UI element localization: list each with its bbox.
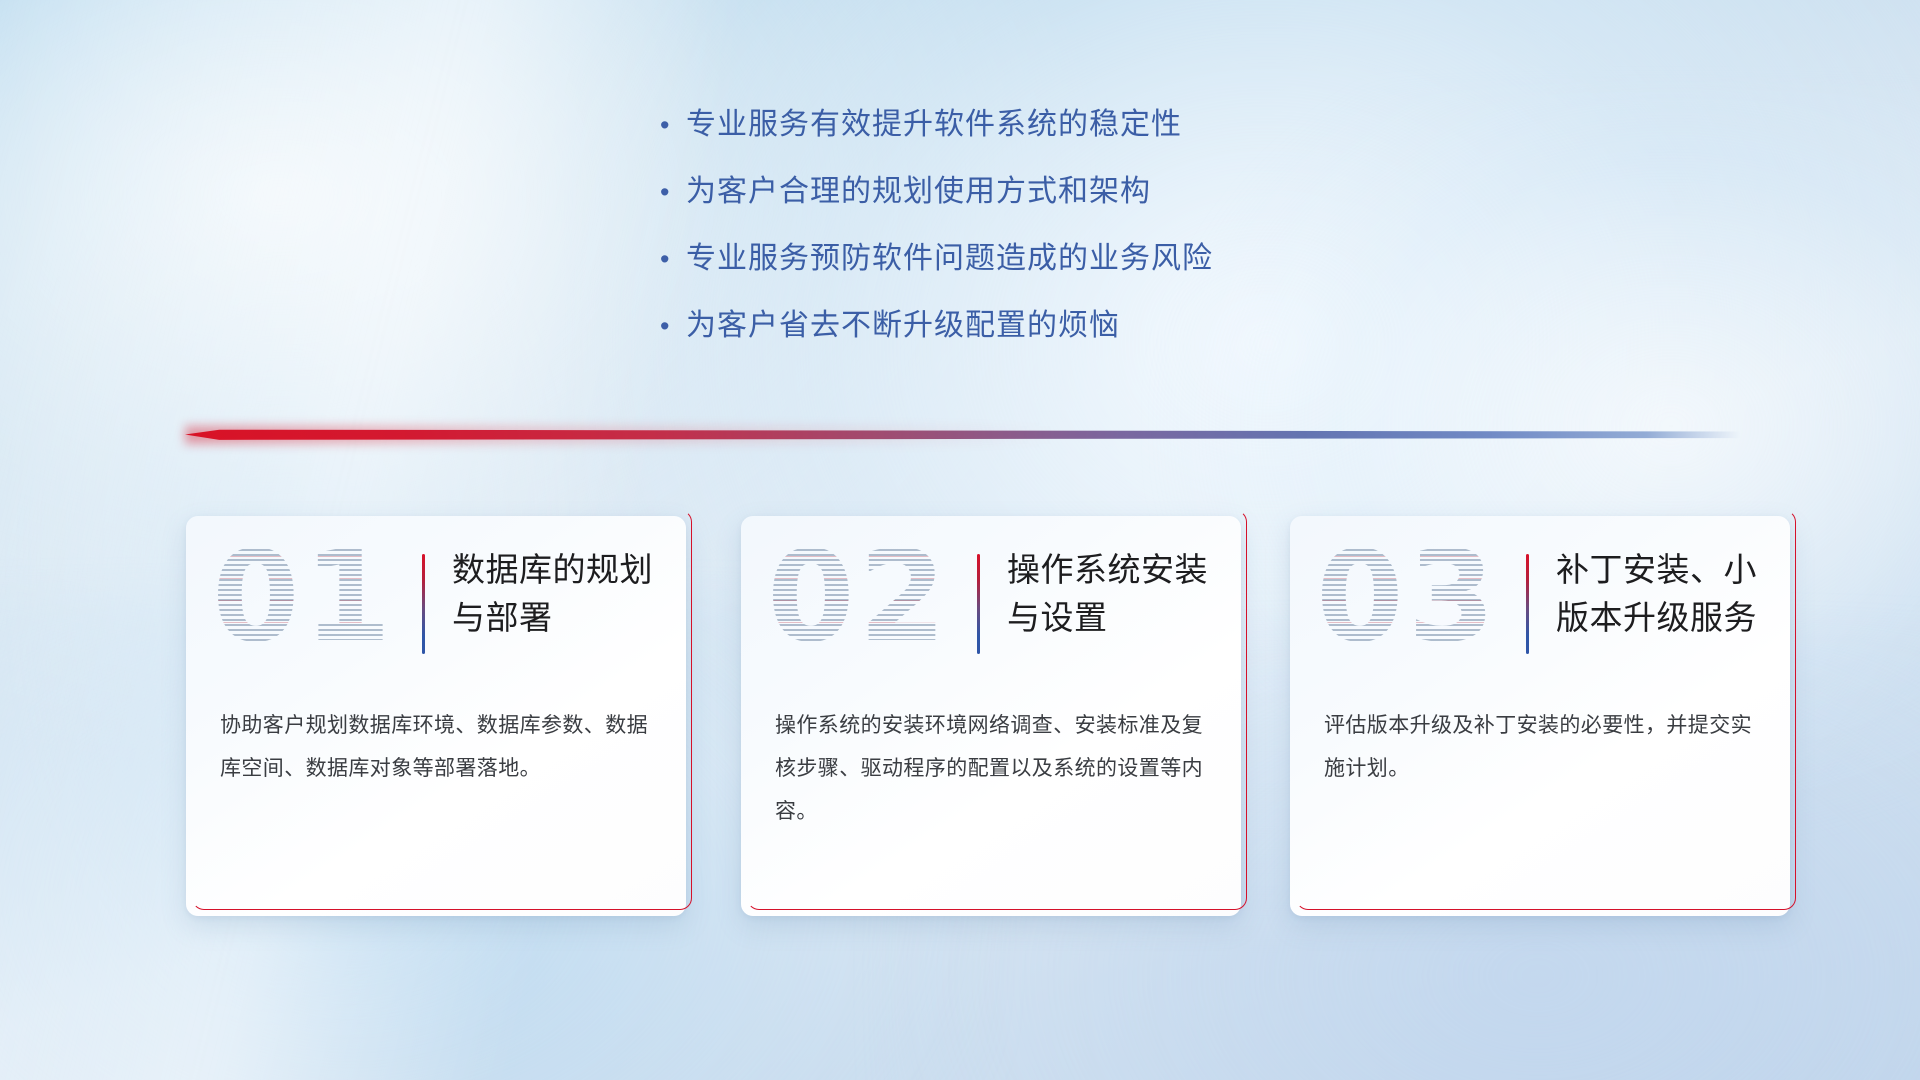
service-card-group: 01 01 数据库的规划与部署 协助客户规划数据库环境、数据库参数、数据库空间、… (0, 516, 1920, 928)
card-title: 操作系统安装与设置 (1007, 546, 1221, 642)
card-header: 03 03 补丁安装、小版本升级服务 (1290, 516, 1790, 692)
bullet-text: 为客户合理的规划使用方式和架构 (686, 172, 1151, 212)
card-inner: 03 03 补丁安装、小版本升级服务 评估版本升级及补丁安装的必要性，并提交实施… (1290, 516, 1790, 916)
bullet-dot-icon: • (660, 306, 686, 346)
bullet-text: 专业服务预防软件问题造成的业务风险 (686, 239, 1213, 279)
card-number-watermark-tint: 02 (767, 534, 950, 660)
list-item: • 为客户省去不断升级配置的烦恼 (660, 306, 1420, 346)
bullet-dot-icon: • (660, 172, 686, 212)
card-inner: 02 02 操作系统安装与设置 操作系统的安装环境网络调查、安装标准及复核步骤、… (741, 516, 1241, 916)
card-header: 01 01 数据库的规划与部署 (186, 516, 686, 692)
bullet-dot-icon: • (660, 105, 686, 145)
list-item: • 专业服务有效提升软件系统的稳定性 (660, 105, 1420, 145)
benefits-bullet-list: • 专业服务有效提升软件系统的稳定性 • 为客户合理的规划使用方式和架构 • 专… (660, 105, 1420, 373)
card-body-text: 操作系统的安装环境网络调查、安装标准及复核步骤、驱动程序的配置以及系统的设置等内… (775, 704, 1209, 833)
service-card-03[interactable]: 03 03 补丁安装、小版本升级服务 评估版本升级及补丁安装的必要性，并提交实施… (1290, 516, 1790, 916)
list-item: • 为客户合理的规划使用方式和架构 (660, 172, 1420, 212)
service-card-02[interactable]: 02 02 操作系统安装与设置 操作系统的安装环境网络调查、安装标准及复核步骤、… (741, 516, 1241, 916)
service-card-01[interactable]: 01 01 数据库的规划与部署 协助客户规划数据库环境、数据库参数、数据库空间、… (186, 516, 686, 916)
title-divider-bar (1526, 554, 1529, 654)
title-divider-bar (422, 554, 425, 654)
card-header: 02 02 操作系统安装与设置 (741, 516, 1241, 692)
card-title: 补丁安装、小版本升级服务 (1556, 546, 1770, 642)
card-number-watermark-tint: 03 (1316, 534, 1499, 660)
bullet-dot-icon: • (660, 239, 686, 279)
card-inner: 01 01 数据库的规划与部署 协助客户规划数据库环境、数据库参数、数据库空间、… (186, 516, 686, 916)
list-item: • 专业服务预防软件问题造成的业务风险 (660, 239, 1420, 279)
card-title: 数据库的规划与部署 (452, 546, 666, 642)
title-divider-bar (977, 554, 980, 654)
bullet-text: 专业服务有效提升软件系统的稳定性 (686, 105, 1182, 145)
bullet-text: 为客户省去不断升级配置的烦恼 (686, 306, 1120, 346)
card-body-text: 评估版本升级及补丁安装的必要性，并提交实施计划。 (1324, 704, 1758, 790)
card-number-watermark-tint: 01 (212, 534, 395, 660)
card-body-text: 协助客户规划数据库环境、数据库参数、数据库空间、数据库对象等部署落地。 (220, 704, 654, 790)
section-divider (185, 424, 1740, 446)
